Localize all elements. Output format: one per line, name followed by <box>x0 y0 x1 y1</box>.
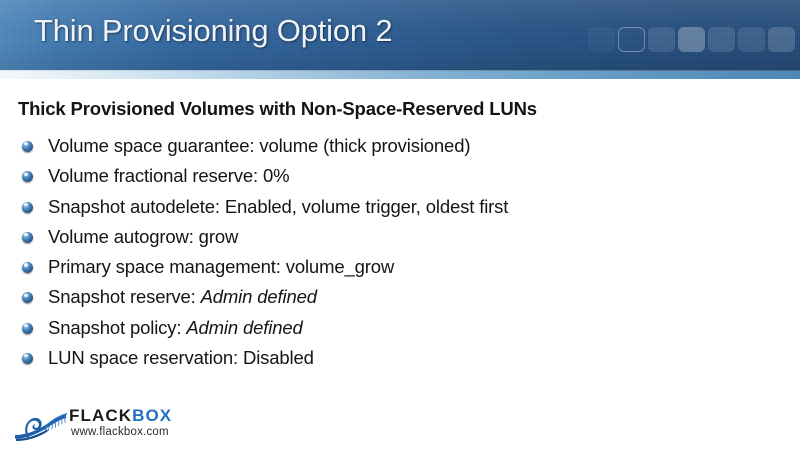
bullet-label: Volume space guarantee: volume (thick pr… <box>48 135 470 156</box>
blue-sphere-bullet-icon <box>22 232 33 243</box>
flackbox-logo[interactable]: FLACKBOX www.flackbox.com <box>14 401 214 446</box>
decor-square-1 <box>588 27 615 52</box>
slide-header-bar: Thin Provisioning Option 2 <box>0 0 800 71</box>
bullet-item: Snapshot autodelete: Enabled, volume tri… <box>18 192 778 222</box>
bullet-emphasis: Admin defined <box>186 317 302 338</box>
flackbox-bridge-logo-icon <box>14 405 72 443</box>
slide-title: Thin Provisioning Option 2 <box>34 13 392 49</box>
bullet-item: Snapshot policy: Admin defined <box>18 313 778 343</box>
decor-square-3 <box>648 27 675 52</box>
bullet-label: Primary space management: volume_grow <box>48 256 394 277</box>
logo-wordmark: FLACKBOX <box>69 406 172 426</box>
decor-square-2 <box>618 27 645 52</box>
bullet-emphasis: Admin defined <box>201 286 317 307</box>
logo-word-accent: BOX <box>132 406 172 425</box>
decor-square-4 <box>678 27 705 52</box>
blue-sphere-bullet-icon <box>22 262 33 273</box>
bullet-item: Volume space guarantee: volume (thick pr… <box>18 131 778 161</box>
blue-sphere-bullet-icon <box>22 353 33 364</box>
blue-sphere-bullet-icon <box>22 141 33 152</box>
logo-url: www.flackbox.com <box>71 426 169 438</box>
logo-word-primary: FLACK <box>69 406 132 425</box>
bullet-list: Volume space guarantee: volume (thick pr… <box>18 131 778 373</box>
bullet-label: LUN space reservation: Disabled <box>48 347 314 368</box>
bullet-label: Volume fractional reserve: 0% <box>48 165 289 186</box>
header-underline-strip <box>0 71 800 79</box>
bullet-item: Volume fractional reserve: 0% <box>18 161 778 191</box>
bullet-label: Snapshot reserve: Admin defined <box>48 286 317 307</box>
decor-square-6 <box>738 27 765 52</box>
bullet-label: Snapshot autodelete: Enabled, volume tri… <box>48 196 508 217</box>
bullet-item: LUN space reservation: Disabled <box>18 343 778 373</box>
bullet-item: Primary space management: volume_grow <box>18 252 778 282</box>
decor-square-7 <box>768 27 795 52</box>
slide-content: Thick Provisioned Volumes with Non-Space… <box>0 79 800 450</box>
blue-sphere-bullet-icon <box>22 292 33 303</box>
decor-square-5 <box>708 27 735 52</box>
content-heading: Thick Provisioned Volumes with Non-Space… <box>18 98 537 120</box>
bullet-item: Snapshot reserve: Admin defined <box>18 282 778 312</box>
blue-sphere-bullet-icon <box>22 171 33 182</box>
slide-canvas: Thin Provisioning Option 2 Thick Provisi… <box>0 0 800 450</box>
bullet-label: Volume autogrow: grow <box>48 226 238 247</box>
header-decorative-squares <box>588 27 800 52</box>
blue-sphere-bullet-icon <box>22 323 33 334</box>
bullet-label: Snapshot policy: Admin defined <box>48 317 303 338</box>
blue-sphere-bullet-icon <box>22 202 33 213</box>
bullet-item: Volume autogrow: grow <box>18 222 778 252</box>
